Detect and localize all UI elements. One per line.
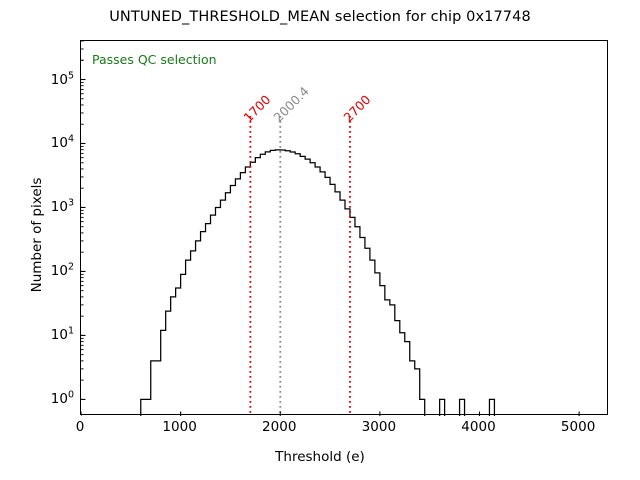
- y-tick-mantissa: 10: [51, 327, 68, 343]
- y-tick-mantissa: 10: [51, 135, 68, 151]
- x-tick-label: 3000: [362, 419, 396, 435]
- chart-title: UNTUNED_THRESHOLD_MEAN selection for chi…: [0, 9, 640, 25]
- y-tick-mantissa: 10: [51, 199, 68, 215]
- y-tick-label: 105: [30, 70, 74, 88]
- axis-tick-marks: [81, 41, 579, 416]
- y-tick-label: 100: [30, 390, 74, 408]
- qc-pass-note: Passes QC selection: [92, 52, 217, 67]
- x-tick-label: 1000: [162, 419, 196, 435]
- x-axis-label: Threshold (e): [0, 449, 640, 465]
- y-tick-mantissa: 10: [51, 71, 68, 87]
- histogram-step-line: [141, 150, 495, 416]
- figure: UNTUNED_THRESHOLD_MEAN selection for chi…: [0, 0, 640, 480]
- x-tick-label: 4000: [461, 419, 495, 435]
- y-tick-exponent: 0: [68, 390, 74, 401]
- y-tick-exponent: 2: [68, 262, 74, 273]
- y-tick-exponent: 1: [68, 326, 74, 337]
- x-tick-label: 5000: [561, 419, 595, 435]
- y-tick-exponent: 4: [68, 134, 74, 145]
- x-tick-label: 2000: [262, 419, 296, 435]
- y-tick-mantissa: 10: [51, 391, 68, 407]
- histogram-outline: [141, 150, 495, 416]
- y-tick-exponent: 3: [68, 198, 74, 209]
- x-tick-label: 0: [76, 419, 85, 435]
- histogram-svg: [81, 41, 609, 416]
- threshold-vertical-lines: [250, 116, 350, 416]
- y-tick-mantissa: 10: [51, 263, 68, 279]
- plot-area: [80, 40, 608, 415]
- y-axis-label: Number of pixels: [29, 115, 45, 355]
- y-tick-exponent: 5: [68, 70, 74, 81]
